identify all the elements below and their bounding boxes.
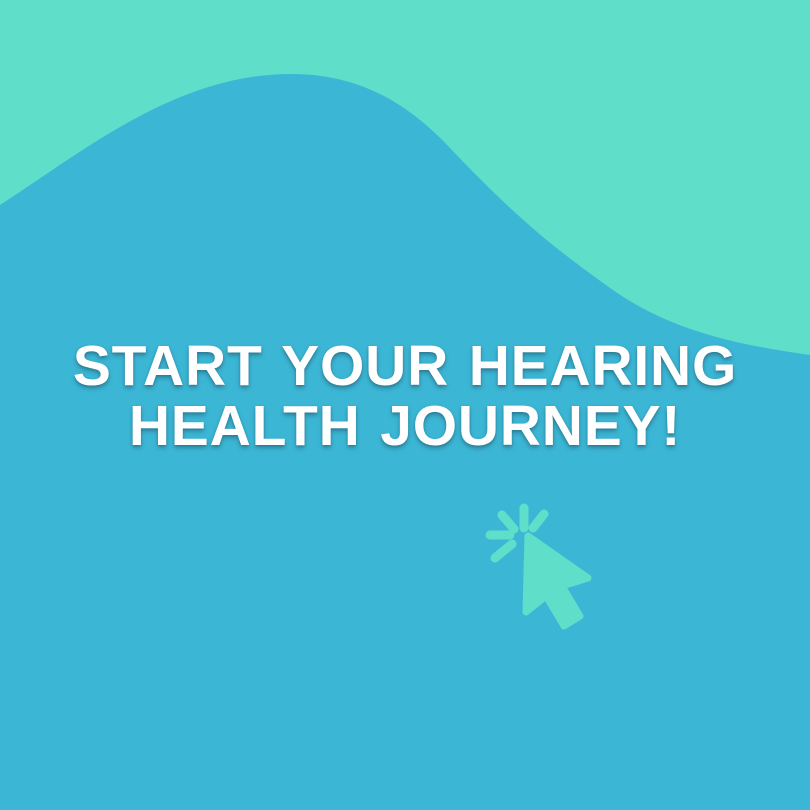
burst-line-4 — [533, 514, 544, 528]
burst-line-3 — [495, 544, 512, 558]
burst-line-1 — [502, 515, 514, 529]
background-wave-illustration — [0, 0, 810, 810]
click-cursor-icon — [476, 492, 606, 622]
click-cursor-graphic — [476, 492, 606, 622]
mouse-pointer-arrow-icon — [526, 536, 588, 626]
promo-banner: START YOUR HEARING HEALTH JOURNEY! — [0, 0, 810, 810]
